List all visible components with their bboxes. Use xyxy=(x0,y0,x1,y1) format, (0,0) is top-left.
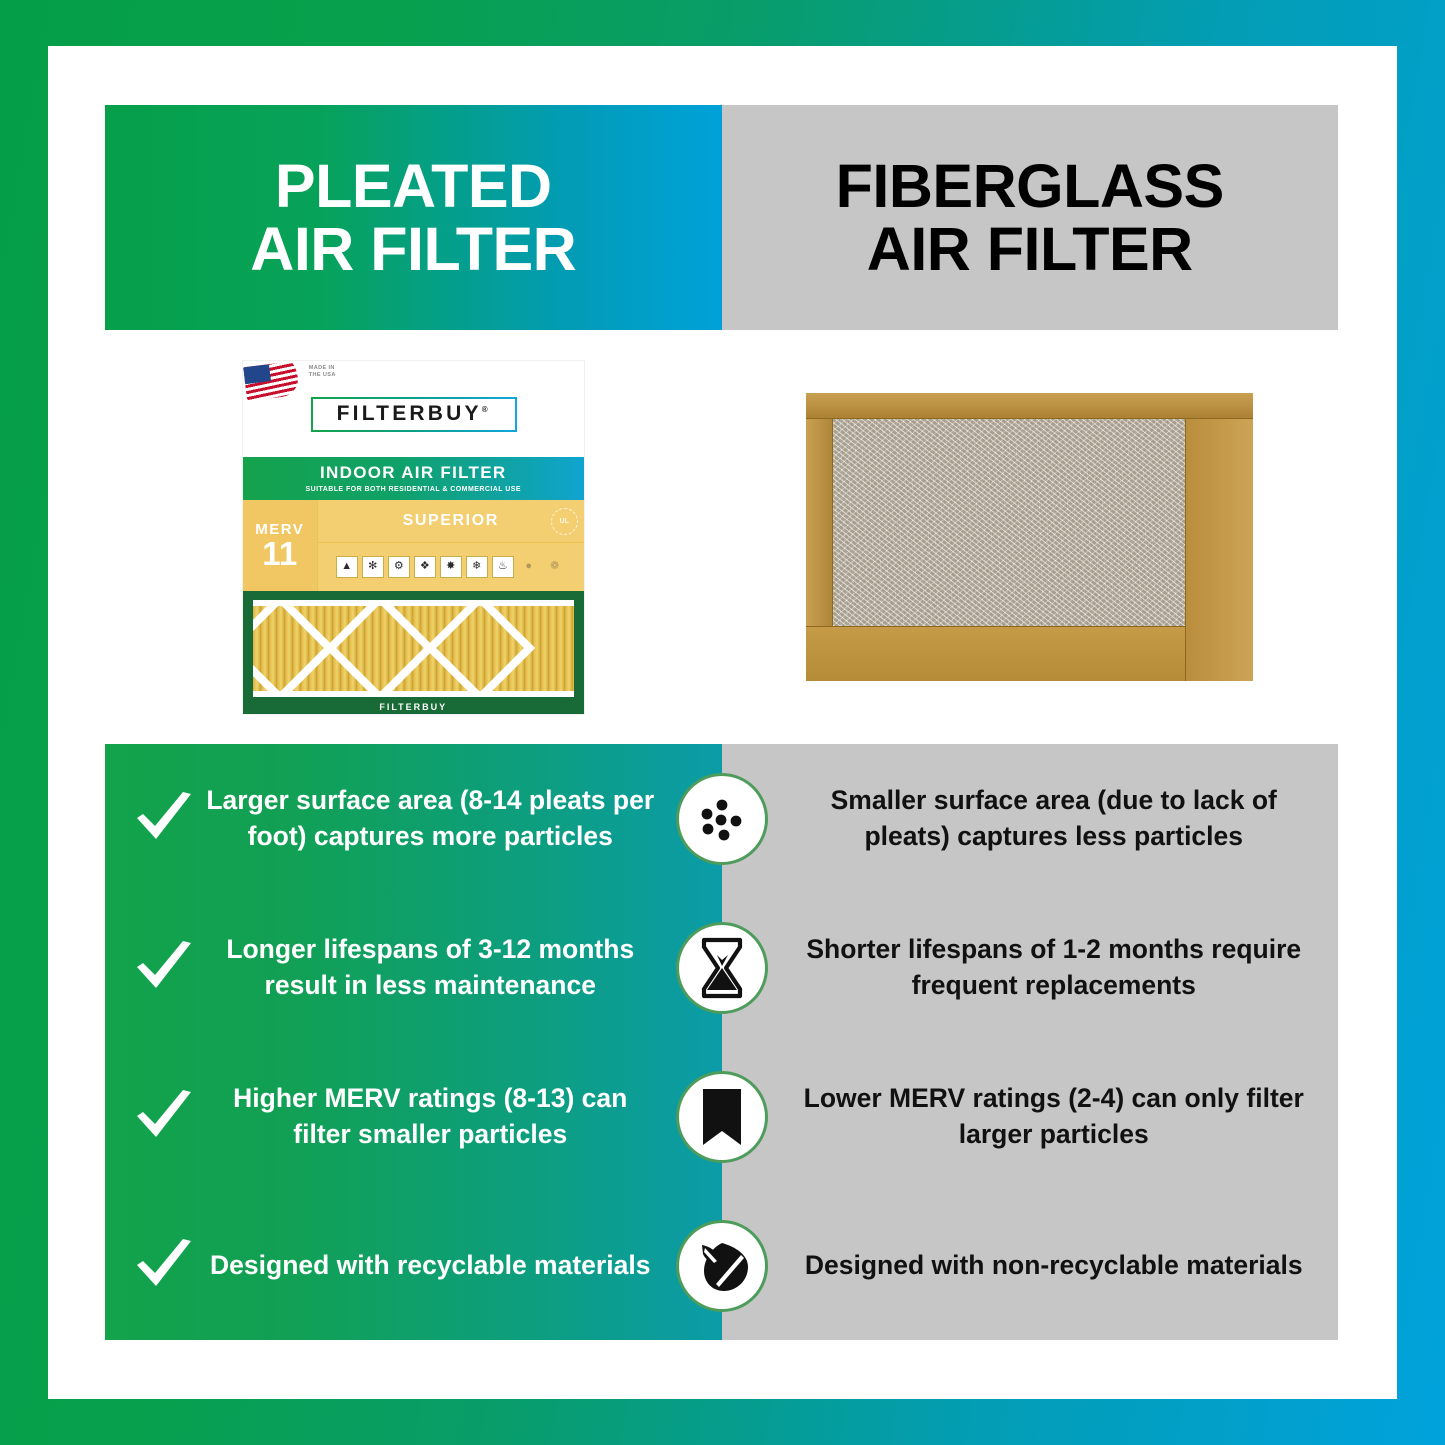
comparison-row: Higher MERV ratings (8-13) can filter sm… xyxy=(105,1042,1338,1191)
insect-icon: ✻ xyxy=(362,556,384,578)
registered-mark: ® xyxy=(482,405,491,414)
box-top-panel: MADE IN THE USA FILTERBUY® xyxy=(243,361,584,457)
box-band-title: INDOOR AIR FILTER xyxy=(320,463,506,483)
header-fiberglass-title: FIBERGLASS AIR FILTER xyxy=(836,155,1224,281)
pleated-product-cell: MADE IN THE USA FILTERBUY® INDOOR AIR FI… xyxy=(105,330,722,744)
comparison-right-text: Shorter lifespans of 1-2 months require … xyxy=(798,932,1311,1003)
comparison-row: Larger surface area (8-14 pleats per foo… xyxy=(105,744,1338,893)
infographic-page: PLEATED AIR FILTER FIBERGLASS AIR FILTER xyxy=(0,0,1445,1445)
smoke-icon: ♨ xyxy=(492,556,514,578)
comparison-row-right: Shorter lifespans of 1-2 months require … xyxy=(722,932,1339,1003)
usa-flag-icon xyxy=(243,361,300,401)
header-pleated-line2: AIR FILTER xyxy=(250,218,576,281)
box-spec-panel: MERV 11 SUPERIOR UL ▲ ✻ ⚙ xyxy=(243,500,584,591)
cardboard-frame-bottom xyxy=(806,626,1185,681)
merv-value: 11 xyxy=(262,538,297,569)
header-fiberglass: FIBERGLASS AIR FILTER xyxy=(722,105,1339,330)
made-in-line1: MADE IN xyxy=(309,365,336,372)
checkmark-icon xyxy=(133,790,195,848)
comparison-left-text: Longer lifespans of 3-12 months result i… xyxy=(203,932,658,1003)
pleat-support-diamond xyxy=(425,600,535,697)
comparison-right-text: Lower MERV ratings (2-4) can only filter… xyxy=(798,1081,1311,1152)
leaf-icon xyxy=(676,1220,768,1312)
particles-icon xyxy=(676,773,768,865)
comparison-row: Designed with recyclable materials Desig… xyxy=(105,1191,1338,1340)
tier-label: SUPERIOR xyxy=(403,512,499,530)
comparison-left-text: Designed with recyclable materials xyxy=(203,1248,658,1284)
header-fiberglass-line2: AIR FILTER xyxy=(836,218,1224,281)
brand-name: FILTERBUY® xyxy=(337,402,491,426)
header-band: PLEATED AIR FILTER FIBERGLASS AIR FILTER xyxy=(105,105,1338,330)
box-product-band: INDOOR AIR FILTER SUITABLE FOR BOTH RESI… xyxy=(243,457,584,500)
header-pleated-line1: PLEATED xyxy=(250,155,576,218)
box-footer-brand: FILTERBUY xyxy=(243,702,584,712)
fiberglass-mesh xyxy=(833,419,1185,626)
made-in-line2: THE USA xyxy=(309,372,336,379)
header-pleated-title: PLEATED AIR FILTER xyxy=(250,155,576,281)
odor-icon: ❁ xyxy=(544,556,566,578)
bookmark-icon xyxy=(676,1071,768,1163)
checkmark-icon xyxy=(133,1237,195,1295)
header-pleated: PLEATED AIR FILTER xyxy=(105,105,722,330)
cardboard-frame-top xyxy=(806,393,1253,419)
box-band-subtitle: SUITABLE FOR BOTH RESIDENTIAL & COMMERCI… xyxy=(305,486,521,493)
ul-certification-icon: UL xyxy=(551,508,578,535)
capability-icon-strip: ▲ ✻ ⚙ ❖ ✸ ❄ ♨ ● ❁ xyxy=(318,543,584,591)
white-card: PLEATED AIR FILTER FIBERGLASS AIR FILTER xyxy=(48,46,1397,1399)
pleat-media xyxy=(253,600,574,697)
dust-icon: ▲ xyxy=(336,556,358,578)
header-fiberglass-line1: FIBERGLASS xyxy=(836,155,1224,218)
comparison-row: Longer lifespans of 3-12 months result i… xyxy=(105,893,1338,1042)
comparison-row-left: Longer lifespans of 3-12 months result i… xyxy=(105,932,722,1003)
lint-icon: ● xyxy=(518,556,540,578)
pleat-support-bar-top xyxy=(253,600,574,606)
bacteria-icon: ⚙ xyxy=(388,556,410,578)
product-images-row: MADE IN THE USA FILTERBUY® INDOOR AIR FI… xyxy=(105,330,1338,744)
comparison-section: Larger surface area (8-14 pleats per foo… xyxy=(105,744,1338,1340)
brand-name-text: FILTERBUY xyxy=(337,402,482,425)
cardboard-frame-right xyxy=(1185,419,1253,681)
comparison-row-left: Higher MERV ratings (8-13) can filter sm… xyxy=(105,1081,722,1152)
tier-row: SUPERIOR UL xyxy=(318,500,584,543)
comparison-left-text: Higher MERV ratings (8-13) can filter sm… xyxy=(203,1081,658,1152)
pleated-filter-product-image: MADE IN THE USA FILTERBUY® INDOOR AIR FI… xyxy=(243,361,584,714)
checkmark-icon xyxy=(133,939,195,997)
pleat-support-bar-bottom xyxy=(253,691,574,697)
comparison-row-right: Lower MERV ratings (2-4) can only filter… xyxy=(722,1081,1339,1152)
hourglass-icon xyxy=(676,922,768,1014)
comparison-right-text: Smaller surface area (due to lack of ple… xyxy=(798,783,1311,854)
comparison-left-text: Larger surface area (8-14 pleats per foo… xyxy=(203,783,658,854)
checkmark-icon xyxy=(133,1088,195,1146)
comparison-row-left: Designed with recyclable materials xyxy=(105,1237,722,1295)
mold-spore-icon: ✸ xyxy=(440,556,462,578)
fiberglass-product-cell xyxy=(722,330,1339,744)
merv-badge: MERV 11 xyxy=(243,500,318,591)
box-spec-right: SUPERIOR UL ▲ ✻ ⚙ ❖ ✸ ❄ ♨ xyxy=(318,500,584,591)
pleat-support-diamond xyxy=(253,600,335,697)
comparison-row-right: Designed with non-recyclable materials xyxy=(722,1248,1339,1284)
pet-dander-icon: ❄ xyxy=(466,556,488,578)
comparison-row-left: Larger surface area (8-14 pleats per foo… xyxy=(105,783,722,854)
brand-logo-frame: FILTERBUY® xyxy=(311,397,517,432)
made-in-usa-label: MADE IN THE USA xyxy=(309,365,336,380)
pollen-icon: ❖ xyxy=(414,556,436,578)
comparison-row-right: Smaller surface area (due to lack of ple… xyxy=(722,783,1339,854)
cardboard-frame-left xyxy=(806,419,833,626)
pleat-media-window: FILTERBUY xyxy=(243,591,584,714)
comparison-right-text: Designed with non-recyclable materials xyxy=(798,1248,1311,1284)
fiberglass-filter-product-image xyxy=(806,393,1253,681)
pleat-support-diamond xyxy=(325,600,435,697)
